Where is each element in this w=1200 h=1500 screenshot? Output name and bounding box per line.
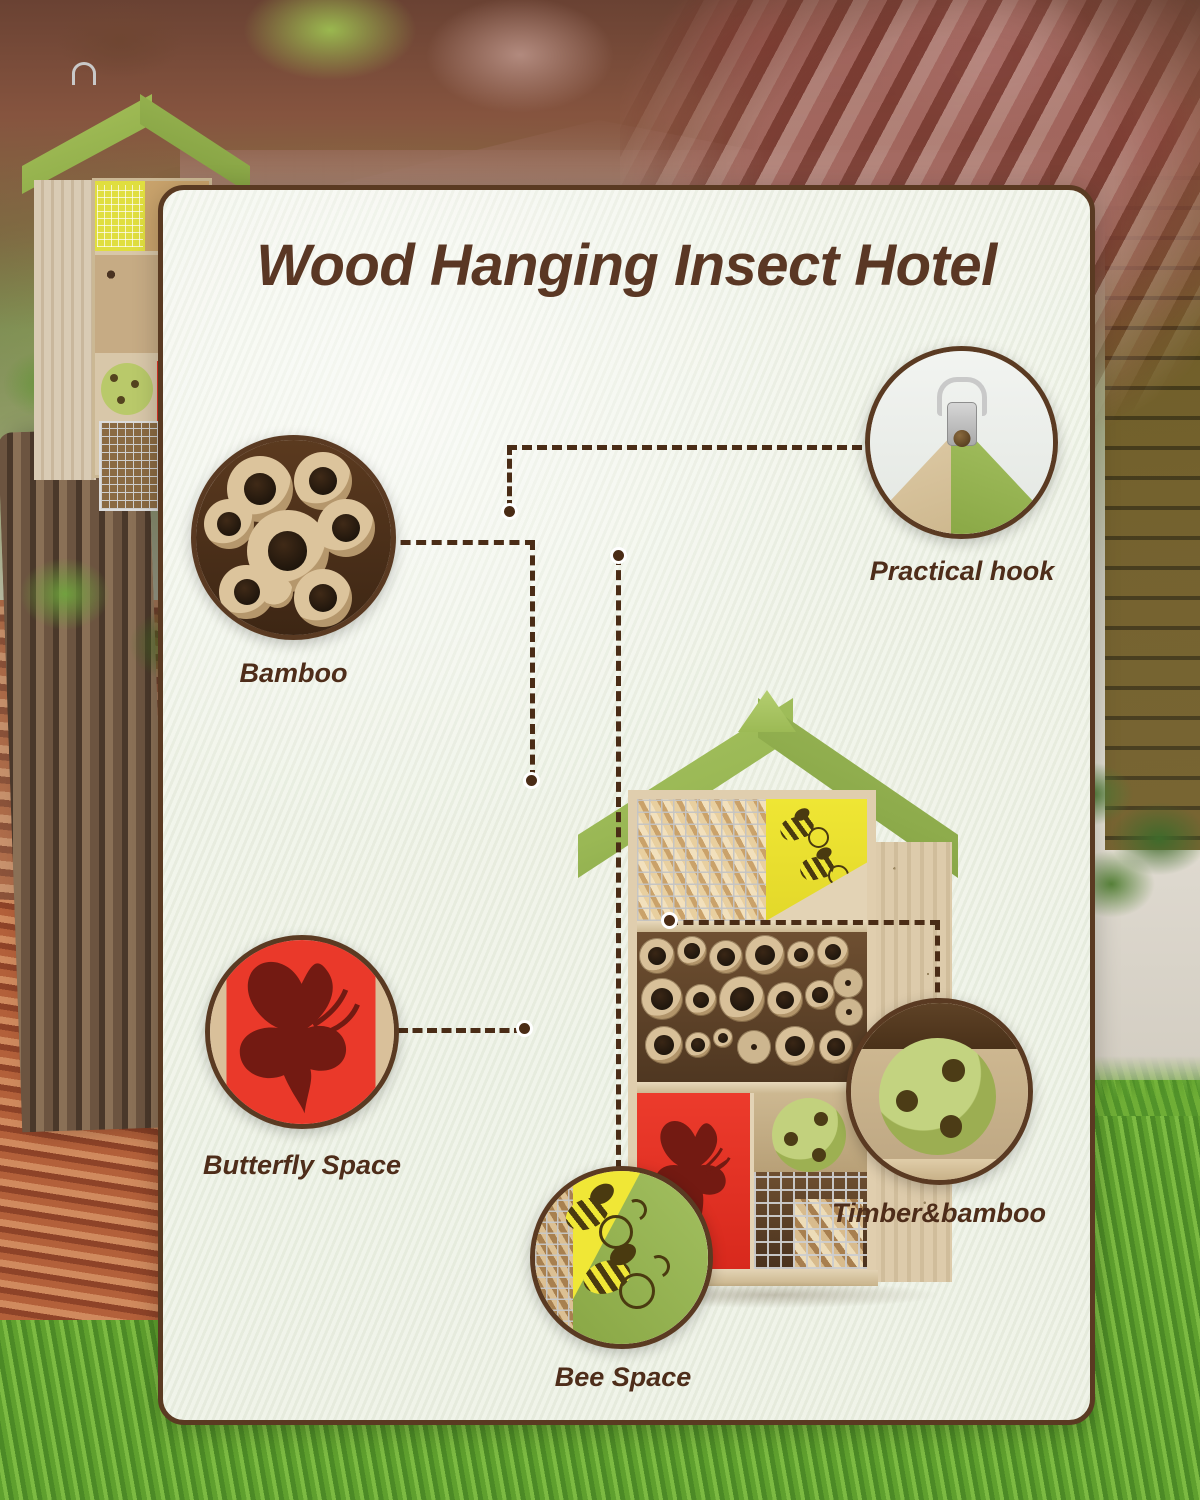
- bee-panel-icon: [530, 1166, 713, 1349]
- hanging-hook-icon: [72, 62, 96, 85]
- drilled-log-icon: [846, 998, 1033, 1185]
- callout-label-timber: Timber&bamboo: [803, 1198, 1075, 1229]
- callout-label-bee: Bee Space: [503, 1362, 743, 1393]
- butterfly-panel-icon: [205, 935, 399, 1129]
- bamboo-compartment: [637, 932, 867, 1082]
- drilled-timber-log: [772, 1098, 846, 1172]
- attic-wire-mesh: [637, 799, 766, 921]
- attic-compartment: [637, 799, 867, 921]
- bamboo-tubes-icon: [191, 435, 396, 640]
- d-ring-hook-icon: [865, 346, 1058, 539]
- bg-mesh-compartment: [99, 421, 161, 511]
- info-card: Wood Hanging Insect Hotel: [158, 185, 1095, 1425]
- butterfly-shape-icon: [228, 946, 375, 1119]
- callout-label-butterfly: Butterfly Space: [171, 1150, 433, 1181]
- page-title: Wood Hanging Insect Hotel: [163, 232, 1090, 299]
- bg-side-panel: [34, 180, 96, 480]
- bee-panel: [766, 799, 867, 921]
- shelf-divider-2: [637, 1082, 867, 1093]
- log-face: [879, 1038, 996, 1155]
- bg-timber-log: [101, 363, 153, 415]
- infographic-stage: Wood Hanging Insect Hotel: [0, 0, 1200, 1500]
- callout-label-practical-hook: Practical hook: [833, 556, 1091, 587]
- callout-label-bamboo: Bamboo: [191, 658, 396, 689]
